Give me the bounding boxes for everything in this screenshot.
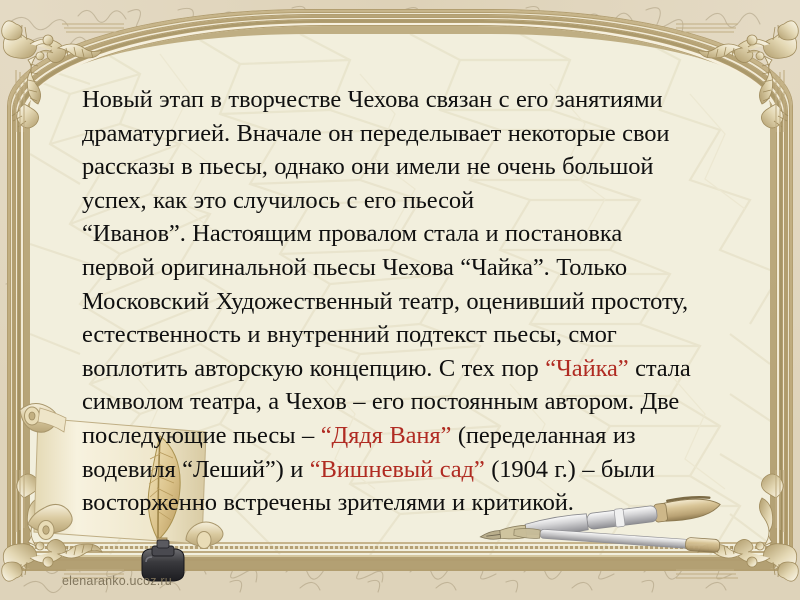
body-text-line: рассказы в пьесы, однако они имели не оч…: [82, 150, 752, 184]
bottom-rule-band: [30, 542, 770, 564]
body-text-run: первой оригинальной пьесы Чехова “Чайка”…: [82, 254, 627, 281]
body-text: Новый этап в творчестве Чехова связан с …: [82, 83, 752, 520]
body-text-line: успех, как это случилось с его пьесой: [82, 184, 752, 218]
body-text-run: рассказы в пьесы, однако они имели не оч…: [82, 153, 653, 180]
body-text-line: естественность и внутренний подтекст пье…: [82, 318, 752, 352]
body-text-line: водевиля “Леший”) и “Вишневый сад” (1904…: [82, 453, 752, 487]
highlighted-play-title: “Вишневый сад”: [310, 456, 485, 483]
body-text-line: “Иванов”. Настоящим провалом стала и пос…: [82, 217, 752, 251]
body-text-run: Московский Художественный театр, оценивш…: [82, 288, 688, 315]
body-text-run: последующие пьесы –: [82, 422, 321, 449]
body-text-run: стала: [629, 355, 691, 382]
body-text-line: восторженно встречены зрителями и критик…: [82, 486, 752, 520]
body-text-run: Новый этап в творчестве Чехова связан с …: [82, 86, 663, 113]
body-text-line: первой оригинальной пьесы Чехова “Чайка”…: [82, 251, 752, 285]
highlighted-play-title: “Чайка”: [545, 355, 628, 382]
body-text-run: (переделанная из: [451, 422, 635, 449]
slide-canvas: Новый этап в творчестве Чехова связан с …: [0, 0, 800, 600]
body-text-line: воплотить авторскую концепцию. С тех пор…: [82, 352, 752, 386]
highlighted-play-title: “Дядя Ваня”: [321, 422, 452, 449]
body-text-line: драматургией. Вначале он переделывает не…: [82, 117, 752, 151]
body-text-run: восторженно встречены зрителями и критик…: [82, 489, 574, 516]
body-text-line: последующие пьесы – “Дядя Ваня” (передел…: [82, 419, 752, 453]
body-text-run: успех, как это случилось с его пьесой: [82, 187, 474, 214]
body-text-line: Московский Художественный театр, оценивш…: [82, 285, 752, 319]
body-text-run: водевиля “Леший”) и: [82, 456, 310, 483]
body-text-run: драматургией. Вначале он переделывает не…: [82, 120, 669, 147]
body-text-line: символом театра, а Чехов – его постоянны…: [82, 385, 752, 419]
watermark-url: elenaranko.ucoz.ru: [62, 574, 172, 588]
body-text-line: Новый этап в творчестве Чехова связан с …: [82, 83, 752, 117]
body-text-run: воплотить авторскую концепцию. С тех пор: [82, 355, 545, 382]
body-text-run: естественность и внутренний подтекст пье…: [82, 321, 617, 348]
body-text-run: (1904 г.) – были: [485, 456, 655, 483]
body-text-run: символом театра, а Чехов – его постоянны…: [82, 388, 679, 415]
body-text-run: “Иванов”. Настоящим провалом стала и пос…: [82, 220, 622, 247]
